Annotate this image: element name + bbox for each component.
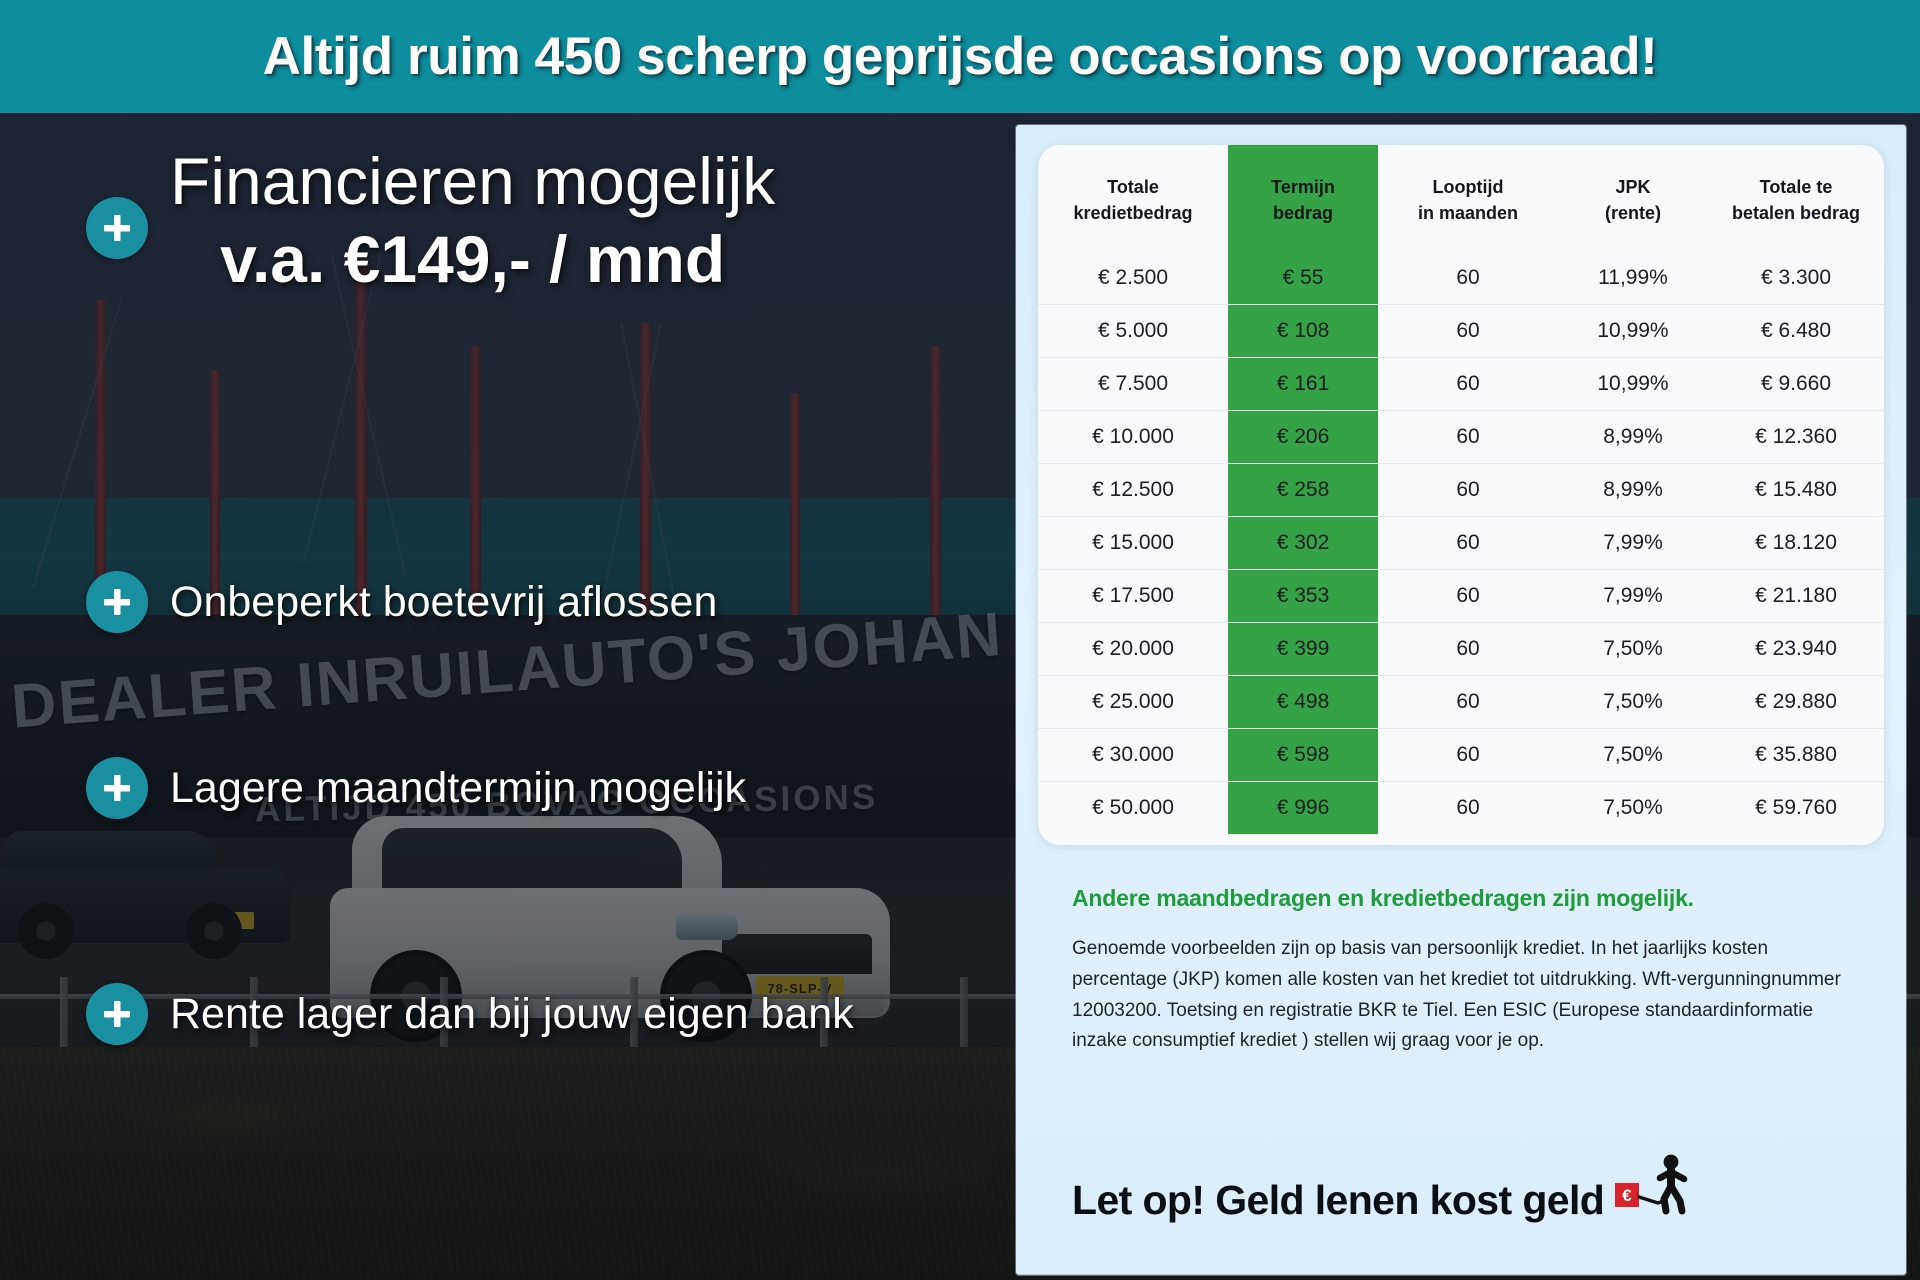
- cell-total-payable: € 23.940: [1708, 623, 1884, 676]
- cell-total-credit: € 10.000: [1038, 411, 1228, 464]
- disclaimer-block: Andere maandbedragen en kredietbedragen …: [1072, 885, 1852, 1057]
- cell-term-amount: € 399: [1228, 623, 1378, 676]
- cell-total-credit: € 2.500: [1038, 252, 1228, 305]
- header-total-credit: Totale kredietbedrag: [1038, 145, 1228, 252]
- cell-term-amount: € 258: [1228, 464, 1378, 517]
- disclaimer-body: Genoemde voorbeelden zijn op basis van p…: [1072, 934, 1852, 1057]
- header-duration: Looptijd in maanden: [1378, 145, 1558, 252]
- cell-total-credit: € 30.000: [1038, 729, 1228, 782]
- cell-term-amount: € 996: [1228, 782, 1378, 835]
- disclaimer-title: Andere maandbedragen en kredietbedragen …: [1072, 885, 1852, 912]
- plus-circle-icon: [86, 197, 148, 259]
- cell-duration: 60: [1378, 252, 1558, 305]
- afm-walking-man-money-block-icon: €: [1614, 1153, 1692, 1220]
- header-line-1: Totale te: [1760, 177, 1833, 197]
- headline-lines: Financieren mogelijk v.a. €149,- / mnd: [170, 143, 775, 299]
- table-row: € 20.000€ 399607,50%€ 23.940: [1038, 623, 1884, 676]
- cell-total-payable: € 18.120: [1708, 517, 1884, 570]
- cell-term-amount: € 302: [1228, 517, 1378, 570]
- cell-total-payable: € 29.880: [1708, 676, 1884, 729]
- rates-table-card: Totale kredietbedrag Termijn bedrag Loop…: [1038, 145, 1884, 845]
- cell-total-payable: € 12.360: [1708, 411, 1884, 464]
- table-row: € 25.000€ 498607,50%€ 29.880: [1038, 676, 1884, 729]
- cell-jkp: 7,50%: [1558, 676, 1708, 729]
- cell-jkp: 8,99%: [1558, 464, 1708, 517]
- headline-line-2: v.a. €149,- / mnd: [170, 221, 775, 299]
- cell-jkp: 10,99%: [1558, 358, 1708, 411]
- cell-jkp: 10,99%: [1558, 305, 1708, 358]
- header-term-amount: Termijn bedrag: [1228, 145, 1378, 252]
- feature-item-3: Rente lager dan bij jouw eigen bank: [86, 983, 854, 1045]
- table-row: € 5.000€ 1086010,99%€ 6.480: [1038, 305, 1884, 358]
- table-row: € 30.000€ 598607,50%€ 35.880: [1038, 729, 1884, 782]
- cell-total-payable: € 59.760: [1708, 782, 1884, 835]
- warning-text: Let op! Geld lenen kost geld: [1072, 1177, 1604, 1224]
- feature-list: Financieren mogelijk v.a. €149,- / mnd O…: [0, 113, 1030, 1280]
- warning-row: Let op! Geld lenen kost geld €: [1072, 1153, 1872, 1224]
- cell-jkp: 7,50%: [1558, 782, 1708, 835]
- top-banner: Altijd ruim 450 scherp geprijsde occasio…: [0, 0, 1920, 113]
- cell-total-credit: € 50.000: [1038, 782, 1228, 835]
- cell-total-payable: € 21.180: [1708, 570, 1884, 623]
- cell-jkp: 11,99%: [1558, 252, 1708, 305]
- header-line-1: Looptijd: [1433, 177, 1504, 197]
- feature-item-1: Onbeperkt boetevrij aflossen: [86, 571, 717, 633]
- cell-total-payable: € 6.480: [1708, 305, 1884, 358]
- cell-jkp: 7,50%: [1558, 729, 1708, 782]
- table-row: € 7.500€ 1616010,99%€ 9.660: [1038, 358, 1884, 411]
- cell-duration: 60: [1378, 411, 1558, 464]
- cell-total-credit: € 20.000: [1038, 623, 1228, 676]
- cell-duration: 60: [1378, 729, 1558, 782]
- table-row: € 17.500€ 353607,99%€ 21.180: [1038, 570, 1884, 623]
- feature-item-2: Lagere maandtermijn mogelijk: [86, 757, 746, 819]
- cell-total-credit: € 17.500: [1038, 570, 1228, 623]
- cell-total-payable: € 9.660: [1708, 358, 1884, 411]
- cell-total-credit: € 5.000: [1038, 305, 1228, 358]
- header-line-2: bedrag: [1273, 203, 1333, 223]
- svg-text:€: €: [1622, 1186, 1632, 1205]
- feature-label: Rente lager dan bij jouw eigen bank: [170, 990, 854, 1039]
- feature-label: Lagere maandtermijn mogelijk: [170, 764, 746, 813]
- cell-duration: 60: [1378, 305, 1558, 358]
- cell-total-credit: € 7.500: [1038, 358, 1228, 411]
- table-row: € 2.500€ 556011,99%€ 3.300: [1038, 252, 1884, 305]
- cell-term-amount: € 598: [1228, 729, 1378, 782]
- header-line-2: kredietbedrag: [1073, 203, 1192, 223]
- cell-total-credit: € 25.000: [1038, 676, 1228, 729]
- feature-label: Onbeperkt boetevrij aflossen: [170, 578, 717, 627]
- header-line-2: (rente): [1605, 203, 1661, 223]
- header-line-1: Totale: [1107, 177, 1159, 197]
- header-line-2: in maanden: [1418, 203, 1518, 223]
- cell-term-amount: € 353: [1228, 570, 1378, 623]
- cell-total-payable: € 3.300: [1708, 252, 1884, 305]
- cell-duration: 60: [1378, 464, 1558, 517]
- financing-rates-table: Totale kredietbedrag Termijn bedrag Loop…: [1038, 145, 1884, 834]
- header-line-1: JPK: [1615, 177, 1650, 197]
- cell-jkp: 7,50%: [1558, 623, 1708, 676]
- financing-panel: Totale kredietbedrag Termijn bedrag Loop…: [1016, 125, 1906, 1275]
- cell-duration: 60: [1378, 570, 1558, 623]
- table-row: € 12.500€ 258608,99%€ 15.480: [1038, 464, 1884, 517]
- cell-total-credit: € 12.500: [1038, 464, 1228, 517]
- cell-term-amount: € 206: [1228, 411, 1378, 464]
- cell-total-credit: € 15.000: [1038, 517, 1228, 570]
- table-header: Totale kredietbedrag Termijn bedrag Loop…: [1038, 145, 1884, 252]
- plus-circle-icon: [86, 983, 148, 1045]
- cell-duration: 60: [1378, 358, 1558, 411]
- cell-total-payable: € 35.880: [1708, 729, 1884, 782]
- table-row: € 50.000€ 996607,50%€ 59.760: [1038, 782, 1884, 835]
- banner-headline: Altijd ruim 450 scherp geprijsde occasio…: [263, 26, 1658, 87]
- cell-duration: 60: [1378, 623, 1558, 676]
- cell-duration: 60: [1378, 517, 1558, 570]
- cell-term-amount: € 498: [1228, 676, 1378, 729]
- header-total-payable: Totale te betalen bedrag: [1708, 145, 1884, 252]
- cell-duration: 60: [1378, 782, 1558, 835]
- header-jkp: JPK (rente): [1558, 145, 1708, 252]
- cell-term-amount: € 161: [1228, 358, 1378, 411]
- table-body: € 2.500€ 556011,99%€ 3.300€ 5.000€ 10860…: [1038, 252, 1884, 834]
- cell-total-payable: € 15.480: [1708, 464, 1884, 517]
- header-line-1: Termijn: [1271, 177, 1335, 197]
- panel-bottom-edge: [1016, 1274, 1906, 1275]
- plus-circle-icon: [86, 571, 148, 633]
- headline-line-1: Financieren mogelijk: [170, 143, 775, 221]
- cell-jkp: 8,99%: [1558, 411, 1708, 464]
- advertisement-banner: Altijd ruim 450 scherp geprijsde occasio…: [0, 0, 1920, 1280]
- cell-jkp: 7,99%: [1558, 570, 1708, 623]
- cell-term-amount: € 108: [1228, 305, 1378, 358]
- header-line-2: betalen bedrag: [1732, 203, 1860, 223]
- cell-term-amount: € 55: [1228, 252, 1378, 305]
- table-header-row: Totale kredietbedrag Termijn bedrag Loop…: [1038, 145, 1884, 252]
- table-row: € 10.000€ 206608,99%€ 12.360: [1038, 411, 1884, 464]
- headline-block: Financieren mogelijk v.a. €149,- / mnd: [86, 143, 775, 299]
- cell-jkp: 7,99%: [1558, 517, 1708, 570]
- table-row: € 15.000€ 302607,99%€ 18.120: [1038, 517, 1884, 570]
- cell-duration: 60: [1378, 676, 1558, 729]
- plus-circle-icon: [86, 757, 148, 819]
